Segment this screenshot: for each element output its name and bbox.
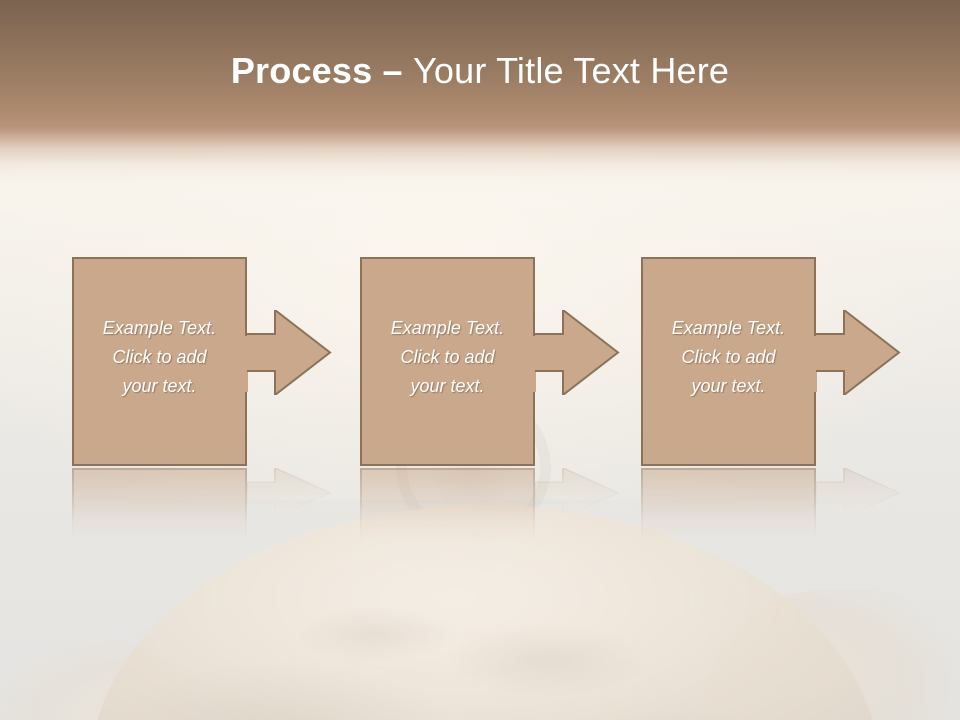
process-step-1-line-2: Click to add bbox=[82, 343, 237, 372]
arrow-shaft-notch bbox=[241, 336, 248, 392]
process-step-2-line-3: your text. bbox=[370, 372, 525, 401]
process-step-2-line-1: Example Text. bbox=[370, 314, 525, 343]
page-title: Process – Your Title Text Here bbox=[0, 48, 960, 94]
process-step-1-box[interactable]: Example Text. Click to add your text. bbox=[72, 257, 247, 466]
process-step-2-reflection bbox=[360, 468, 535, 542]
arrow-shaft-notch bbox=[810, 336, 817, 392]
process-step-3[interactable]: Example Text. Click to add your text. bbox=[641, 257, 816, 466]
title-band bbox=[0, 0, 960, 196]
process-step-3-text: Example Text. Click to add your text. bbox=[651, 314, 806, 401]
reflection-edge bbox=[74, 468, 245, 470]
process-step-3-line-3: your text. bbox=[651, 372, 806, 401]
process-step-1-line-3: your text. bbox=[82, 372, 237, 401]
process-step-3-arrow-reflection bbox=[816, 468, 908, 518]
process-step-2-box[interactable]: Example Text. Click to add your text. bbox=[360, 257, 535, 466]
process-step-3-box[interactable]: Example Text. Click to add your text. bbox=[641, 257, 816, 466]
process-step-1[interactable]: Example Text. Click to add your text. bbox=[72, 257, 247, 466]
process-step-2-text: Example Text. Click to add your text. bbox=[370, 314, 525, 401]
process-step-2-arrow-reflection bbox=[535, 468, 627, 518]
arrow-shaft-notch bbox=[529, 336, 536, 392]
process-step-1-text: Example Text. Click to add your text. bbox=[82, 314, 237, 401]
process-step-3-reflection bbox=[641, 468, 816, 542]
process-step-1-line-1: Example Text. bbox=[82, 314, 237, 343]
process-step-3-line-2: Click to add bbox=[651, 343, 806, 372]
process-step-1-reflection bbox=[72, 468, 247, 542]
process-step-2-line-2: Click to add bbox=[370, 343, 525, 372]
page-title-dash: – bbox=[372, 50, 413, 91]
reflection-edge bbox=[643, 468, 814, 470]
process-step-3-line-1: Example Text. bbox=[651, 314, 806, 343]
reflection-edge bbox=[362, 468, 533, 470]
slide-canvas: Process – Your Title Text Here Example T… bbox=[0, 0, 960, 720]
page-title-strong: Process bbox=[231, 50, 373, 91]
page-title-rest: Your Title Text Here bbox=[413, 50, 729, 91]
process-step-1-arrow-reflection bbox=[247, 468, 339, 518]
process-step-2[interactable]: Example Text. Click to add your text. bbox=[360, 257, 535, 466]
